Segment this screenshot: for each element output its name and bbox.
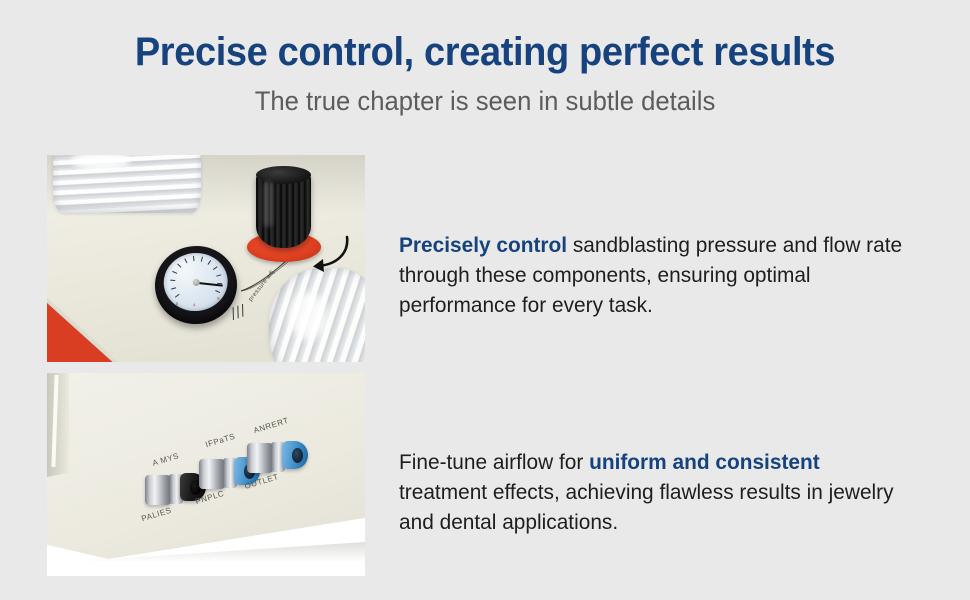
gauge-scale-mark: 0 bbox=[176, 301, 179, 306]
fitting-hex-body bbox=[199, 459, 225, 489]
page-header: Precise control, creating perfect result… bbox=[0, 30, 970, 117]
page-title: Precise control, creating perfect result… bbox=[24, 30, 946, 74]
photo-column: pressure adj 0 4 8 bbox=[47, 155, 365, 576]
feature-lead-airflow: uniform and consistent bbox=[589, 450, 820, 474]
feature-paragraph-airflow: Fine-tune airflow for uniform and consis… bbox=[399, 447, 913, 537]
feature-pre-airflow: Fine-tune airflow for bbox=[399, 450, 589, 474]
feature-lead-pressure: Precisely control bbox=[399, 233, 567, 257]
fitting-hex-body bbox=[145, 475, 171, 505]
fitting-hex-body bbox=[247, 443, 273, 473]
fittings-photo: A MYS PALIES IFPaTS PNPLC ANRERT OUTLET bbox=[47, 373, 365, 576]
gauge-scale-mark: 4 bbox=[193, 302, 196, 307]
gauge-face: 0 4 8 bbox=[161, 250, 231, 314]
fitting-port-hole bbox=[292, 448, 303, 463]
feature-paragraph-pressure: Precisely control sandblasting pressure … bbox=[399, 230, 913, 320]
rotation-arrow-icon bbox=[303, 233, 351, 277]
gauge-hub bbox=[192, 278, 200, 286]
knob-highlight bbox=[263, 181, 273, 227]
page-subtitle: The true chapter is seen in subtle detai… bbox=[24, 87, 946, 117]
feature-body-airflow: treatment effects, achieving flawless re… bbox=[399, 480, 894, 534]
gauge-scale-mark: 8 bbox=[217, 296, 220, 301]
regulator-photo: pressure adj 0 4 8 bbox=[47, 155, 365, 362]
clear-jar-top-left bbox=[53, 155, 201, 213]
